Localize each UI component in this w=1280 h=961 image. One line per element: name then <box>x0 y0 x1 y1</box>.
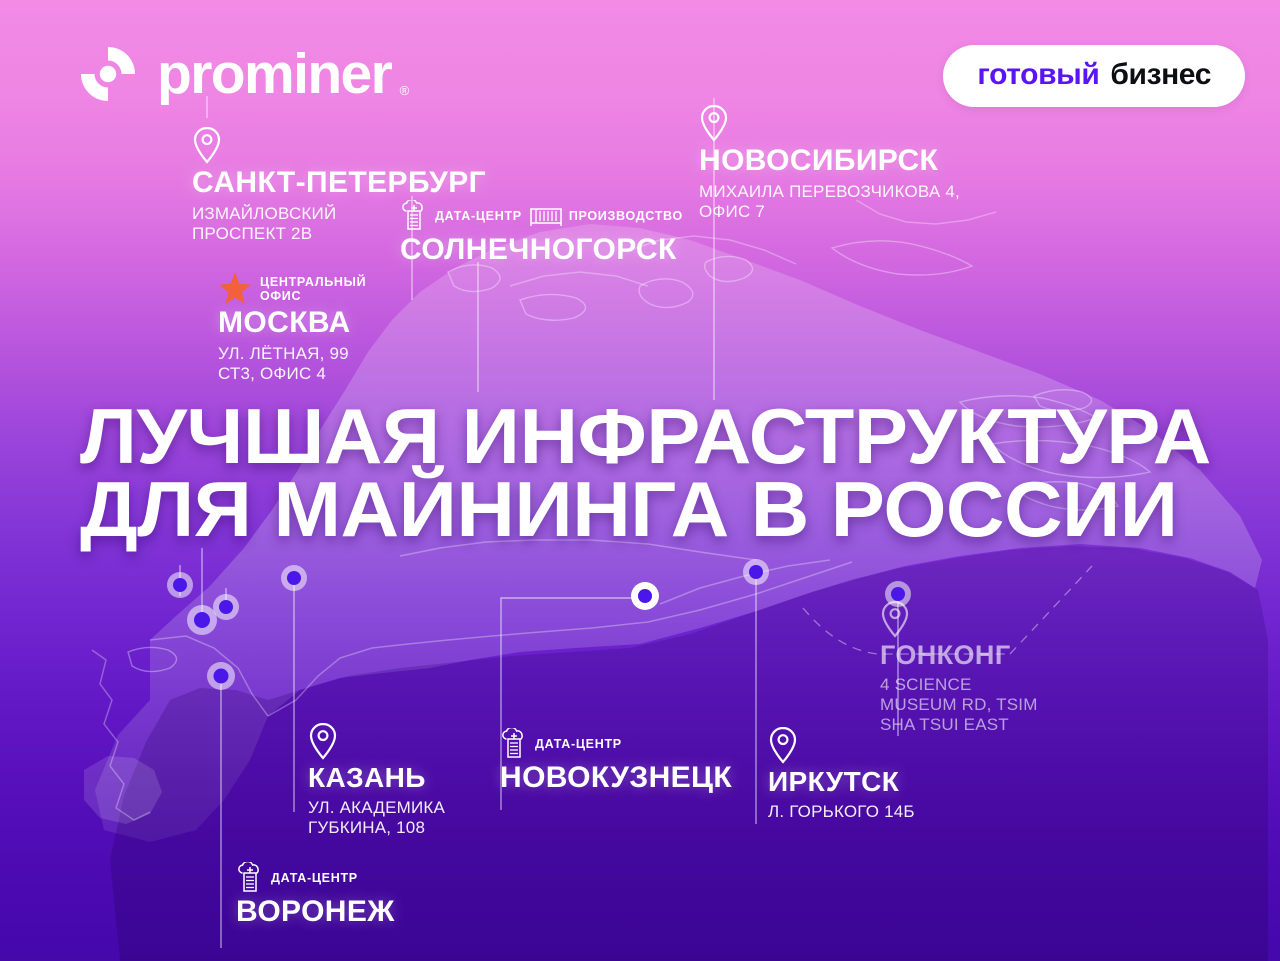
headline-line-1: ЛУЧШАЯ ИНФРАСТРУКТУРА <box>80 400 1280 473</box>
map-marker-dot <box>213 594 239 620</box>
head-office-line-1: ЦЕНТРАЛЬНЫЙ <box>260 275 366 289</box>
tag-data-center: ДАТА-ЦЕНТР <box>500 728 622 760</box>
registered-trademark-icon: ® <box>400 84 410 97</box>
facility-tags: ДАТА-ЦЕНТР ПРОИЗВОДСТВО <box>400 200 683 232</box>
poster-canvas: prominer® готовый бизнес ЛУЧШАЯ ИНФРАСТР… <box>0 0 1280 961</box>
city-name: СОЛНЕЧНОГОРСК <box>400 234 683 266</box>
prominer-pinwheel-icon <box>78 44 138 104</box>
city-name: ВОРОНЕЖ <box>236 896 395 928</box>
head-office-tag: ЦЕНТРАЛЬНЫЙОФИС <box>218 272 366 305</box>
city-block-moscow[interactable]: ЦЕНТРАЛЬНЫЙОФИС МОСКВА УЛ. ЛЁТНАЯ, 99 СТ… <box>218 272 366 384</box>
city-block-novosibirsk[interactable]: НОВОСИБИРСК МИХАИЛА ПЕРЕВОЗЧИКОВА 4, ОФИ… <box>699 104 960 222</box>
data-center-icon <box>236 862 264 894</box>
map-marker-dot <box>207 662 235 690</box>
city-name: НОВОКУЗНЕЦК <box>500 762 732 794</box>
tag-data-center: ДАТА-ЦЕНТР <box>236 862 358 894</box>
map-pin-icon <box>768 726 798 764</box>
head-office-line-2: ОФИС <box>260 289 301 303</box>
tag-data-center: ДАТА-ЦЕНТР <box>400 200 522 232</box>
tag-label: ДАТА-ЦЕНТР <box>435 209 522 223</box>
headline-line-2: ДЛЯ МАЙНИНГА В РОССИИ <box>80 473 1280 546</box>
map-pin-icon <box>192 126 222 164</box>
city-block-kazan[interactable]: КАЗАНЬ УЛ. АКАДЕМИКА ГУБКИНА, 108 <box>308 722 445 838</box>
city-name: МОСКВА <box>218 307 366 339</box>
star-icon <box>218 272 252 305</box>
map-pin-icon <box>699 104 729 142</box>
map-marker-dot <box>187 605 217 635</box>
ready-business-badge[interactable]: готовый бизнес <box>943 45 1245 107</box>
map-marker-dot <box>743 559 769 585</box>
page-title: ЛУЧШАЯ ИНФРАСТРУКТУРА ДЛЯ МАЙНИНГА В РОС… <box>80 400 1280 547</box>
city-name: САНКТ-ПЕТЕРБУРГ <box>192 167 486 199</box>
logo-wordmark-text: prominer <box>157 42 391 106</box>
city-address: МИХАИЛА ПЕРЕВОЗЧИКОВА 4, ОФИС 7 <box>699 182 960 221</box>
map-pin-icon <box>308 722 338 760</box>
badge-plain-word: бизнес <box>1110 58 1211 92</box>
city-block-solnechnogorsk[interactable]: ДАТА-ЦЕНТР ПРОИЗВОДСТВО СОЛНЕЧНОГОРСК <box>400 200 683 266</box>
production-container-icon <box>530 205 562 227</box>
map-pin-icon <box>880 600 910 638</box>
city-address: Л. ГОРЬКОГО 14Б <box>768 802 915 822</box>
city-block-voronezh[interactable]: ДАТА-ЦЕНТР ВОРОНЕЖ <box>236 862 395 928</box>
city-block-hongkong[interactable]: ГОНКОНГ 4 SCIENCE MUSEUM RD, TSIM SHA TS… <box>880 600 1038 734</box>
city-address: УЛ. АКАДЕМИКА ГУБКИНА, 108 <box>308 798 445 837</box>
map-marker-dot <box>281 565 307 591</box>
city-block-irkutsk[interactable]: ИРКУТСК Л. ГОРЬКОГО 14Б <box>768 726 915 822</box>
head-office-label: ЦЕНТРАЛЬНЫЙОФИС <box>260 275 366 303</box>
map-marker-highlighted <box>631 582 659 610</box>
city-block-novokuznetsk[interactable]: ДАТА-ЦЕНТР НОВОКУЗНЕЦК <box>500 728 732 794</box>
facility-tags: ДАТА-ЦЕНТР <box>236 862 395 894</box>
brand-logo[interactable]: prominer® <box>78 44 409 104</box>
city-address: УЛ. ЛЁТНАЯ, 99 СТ3, ОФИС 4 <box>218 344 366 383</box>
map-marker-dot <box>167 572 193 598</box>
city-name: НОВОСИБИРСК <box>699 145 960 177</box>
city-name: КАЗАНЬ <box>308 763 445 793</box>
city-name: ГОНКОНГ <box>880 641 1038 670</box>
city-name: ИРКУТСК <box>768 767 915 797</box>
data-center-icon <box>400 200 428 232</box>
logo-wordmark: prominer® <box>157 46 409 103</box>
tag-label: ДАТА-ЦЕНТР <box>271 871 358 885</box>
tag-label: ДАТА-ЦЕНТР <box>535 737 622 751</box>
data-center-icon <box>500 728 528 760</box>
badge-accent-word: готовый <box>977 58 1099 92</box>
tag-label: ПРОИЗВОДСТВО <box>569 209 683 223</box>
tag-production: ПРОИЗВОДСТВО <box>530 205 683 227</box>
city-address: 4 SCIENCE MUSEUM RD, TSIM SHA TSUI EAST <box>880 675 1038 734</box>
facility-tags: ДАТА-ЦЕНТР <box>500 728 732 760</box>
